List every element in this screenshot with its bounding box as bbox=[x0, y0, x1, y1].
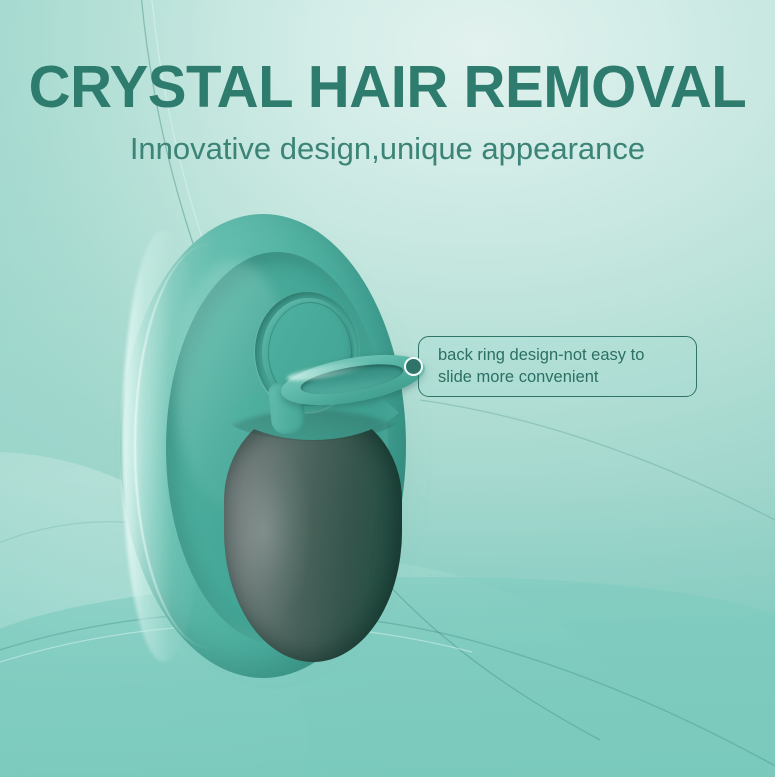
product-banner: CRYSTAL HAIR REMOVAL Innovative design,u… bbox=[0, 0, 775, 777]
heading-block: CRYSTAL HAIR REMOVAL Innovative design,u… bbox=[0, 58, 775, 164]
page-title: CRYSTAL HAIR REMOVAL bbox=[6, 58, 769, 117]
product-image bbox=[120, 214, 420, 684]
callout-marker-dot bbox=[404, 357, 423, 376]
feature-callout-text: back ring design-not easy to slide more … bbox=[419, 345, 696, 387]
feature-callout-box: back ring design-not easy to slide more … bbox=[418, 336, 697, 397]
page-subtitle: Innovative design,unique appearance bbox=[0, 133, 775, 164]
crystal-abrasive-panel bbox=[224, 410, 402, 662]
